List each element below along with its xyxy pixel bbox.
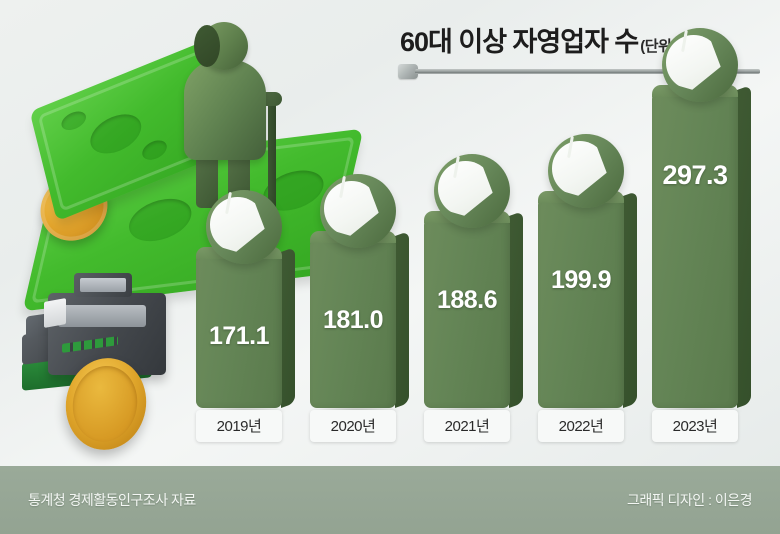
bar-2021[interactable]: 188.6 (424, 216, 510, 408)
footer-bar: 통계청 경제활동인구조사 자료 그래픽 디자인 : 이은경 (0, 466, 780, 534)
person-head-2023 (662, 28, 738, 102)
year-label-2020[interactable]: 2020년 (310, 410, 396, 442)
bar-value-2021: 188.6 (424, 286, 510, 315)
bar-value-2022: 199.9 (538, 266, 624, 295)
bar-group-2021[interactable]: 188.6 (424, 216, 510, 408)
person-head-2022 (548, 134, 624, 208)
bar-side-face (395, 231, 409, 408)
bar-front-face (538, 196, 624, 408)
bar-chart: 171.1 2019년 181.0 2020년 (0, 0, 780, 470)
bar-group-2023[interactable]: 297.3 (652, 90, 738, 408)
person-face (438, 161, 493, 216)
bar-front-face (652, 90, 738, 408)
bar-group-2020[interactable]: 181.0 (310, 236, 396, 408)
bar-2023[interactable]: 297.3 (652, 90, 738, 408)
source-text: 통계청 경제활동인구조사 자료 (28, 490, 196, 510)
person-head-2019 (206, 190, 282, 264)
bar-2020[interactable]: 181.0 (310, 236, 396, 408)
year-label-2019[interactable]: 2019년 (196, 410, 282, 442)
person-head-2021 (434, 154, 510, 228)
bar-value-2023: 297.3 (652, 160, 738, 191)
bar-side-face (281, 247, 295, 408)
year-label-2022[interactable]: 2022년 (538, 410, 624, 442)
bar-group-2019[interactable]: 171.1 (196, 252, 282, 408)
bar-side-face (623, 191, 637, 408)
person-face (324, 181, 379, 236)
person-face (210, 197, 265, 252)
year-label-2023[interactable]: 2023년 (652, 410, 738, 442)
bar-side-face (737, 85, 751, 408)
credit-text: 그래픽 디자인 : 이은경 (627, 490, 752, 510)
year-label-2021[interactable]: 2021년 (424, 410, 510, 442)
bar-value-2020: 181.0 (310, 306, 396, 335)
infographic-canvas: 60대 이상 자영업자 수 (단위 : 만명) (0, 0, 780, 534)
person-head-2020 (320, 174, 396, 248)
bar-side-face (509, 211, 523, 408)
person-face (666, 35, 721, 90)
bar-2019[interactable]: 171.1 (196, 252, 282, 408)
bar-2022[interactable]: 199.9 (538, 196, 624, 408)
bar-value-2019: 171.1 (196, 322, 282, 351)
person-face (552, 141, 607, 196)
bar-group-2022[interactable]: 199.9 (538, 196, 624, 408)
